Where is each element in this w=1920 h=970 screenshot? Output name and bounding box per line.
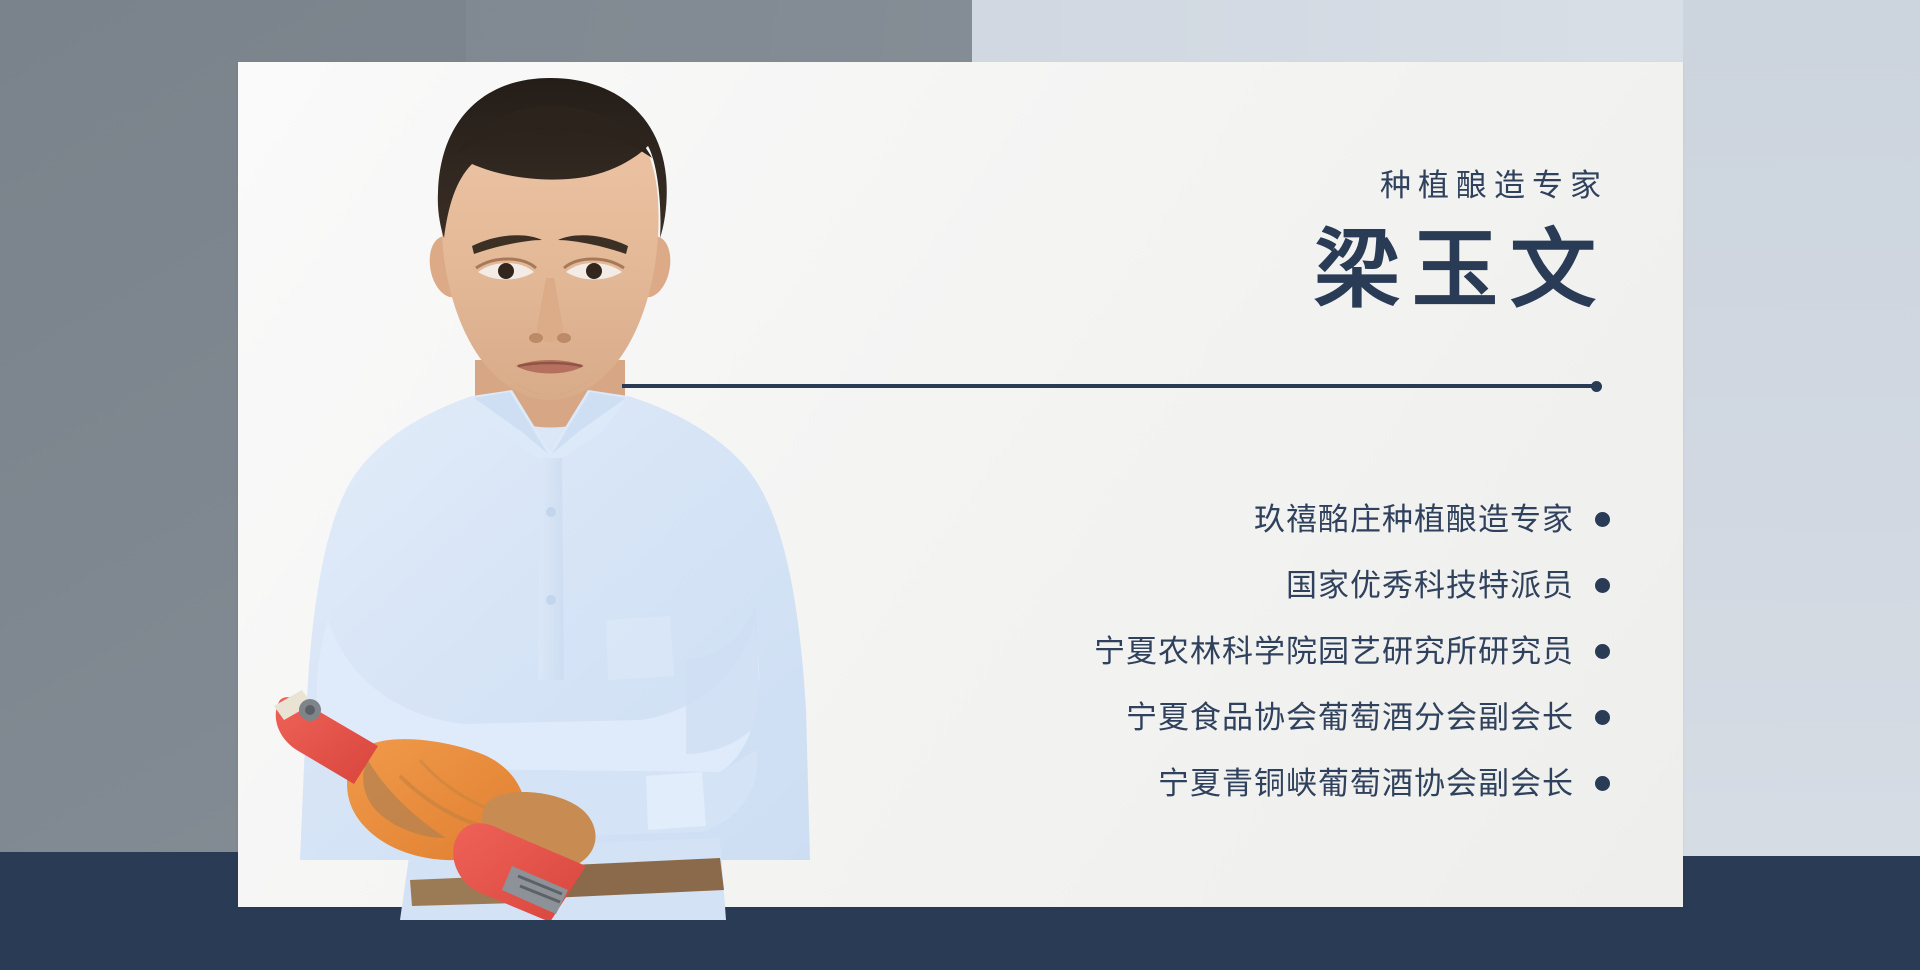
expert-subtitle: 种植酿造专家 xyxy=(700,170,1610,201)
bullet-dot-icon xyxy=(1595,644,1610,659)
heading-divider xyxy=(622,381,1602,391)
expert-heading: 种植酿造专家 梁玉文 xyxy=(700,170,1610,315)
bullet-dot-icon xyxy=(1595,578,1610,593)
expert-profile-banner: 种植酿造专家 梁玉文 玖禧酩庄种植酿造专家 国家优秀科技特派员 宁夏农林科学院园… xyxy=(0,0,1920,970)
bullet-dot-icon xyxy=(1595,710,1610,725)
credential-text: 宁夏农林科学院园艺研究所研究员 xyxy=(1094,636,1574,667)
list-item: 宁夏食品协会葡萄酒分会副会长 xyxy=(700,684,1610,750)
bullet-dot-icon xyxy=(1595,776,1610,791)
credential-list: 玖禧酩庄种植酿造专家 国家优秀科技特派员 宁夏农林科学院园艺研究所研究员 宁夏食… xyxy=(700,486,1610,816)
list-item: 宁夏青铜峡葡萄酒协会副会长 xyxy=(700,750,1610,816)
list-item: 国家优秀科技特派员 xyxy=(700,552,1610,618)
divider-end-dot-icon xyxy=(1591,381,1602,392)
credential-text: 宁夏食品协会葡萄酒分会副会长 xyxy=(1126,702,1574,733)
divider-line xyxy=(622,384,1594,388)
credential-text: 宁夏青铜峡葡萄酒协会副会长 xyxy=(1158,768,1574,799)
background-pale-blue-right-column xyxy=(1683,0,1920,856)
expert-name: 梁玉文 xyxy=(700,225,1610,315)
credential-text: 玖禧酩庄种植酿造专家 xyxy=(1254,504,1574,535)
list-item: 玖禧酩庄种植酿造专家 xyxy=(700,486,1610,552)
bullet-dot-icon xyxy=(1595,512,1610,527)
list-item: 宁夏农林科学院园艺研究所研究员 xyxy=(700,618,1610,684)
credential-text: 国家优秀科技特派员 xyxy=(1286,570,1574,601)
background-navy-right-block xyxy=(1683,856,1920,970)
